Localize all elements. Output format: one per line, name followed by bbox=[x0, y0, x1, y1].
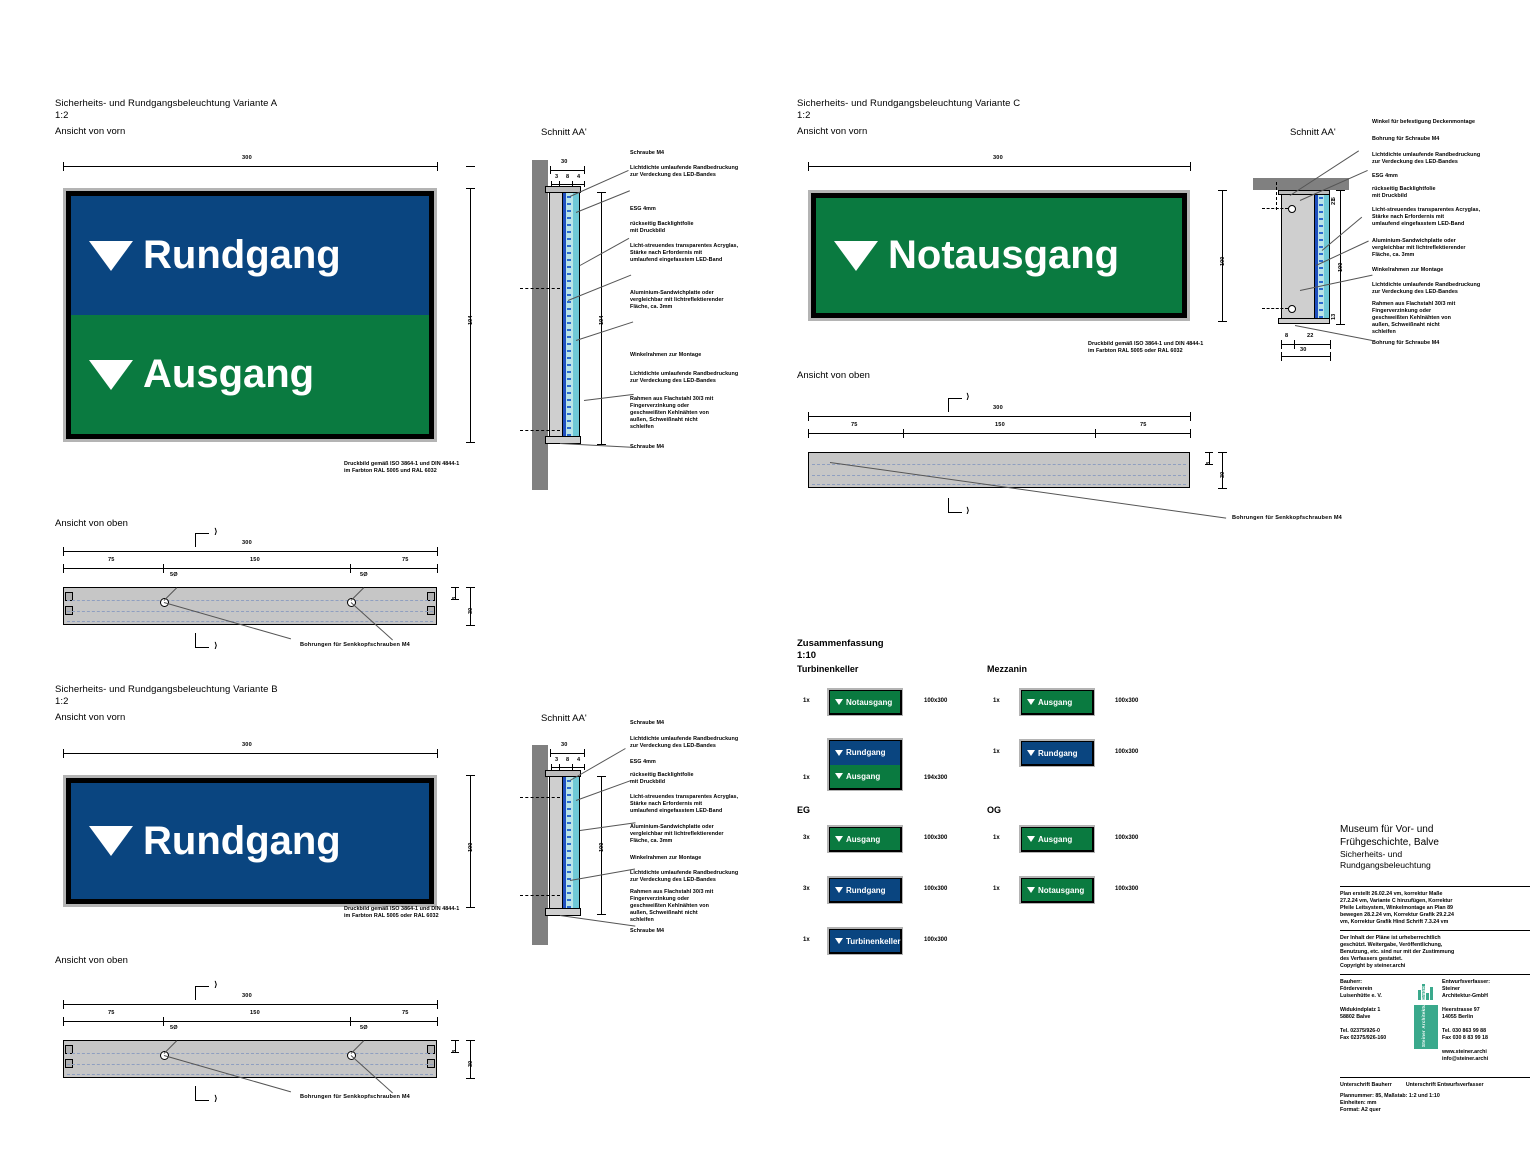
dim-tick bbox=[1336, 324, 1345, 325]
annotation-esg: ESG 4mm bbox=[1372, 173, 1398, 180]
dim-tick bbox=[1218, 321, 1227, 322]
topview-seg-75-left: 75 bbox=[108, 557, 115, 563]
variant-a-width-value: 300 bbox=[242, 155, 252, 161]
dim-tick bbox=[437, 564, 438, 573]
variant-c-print-note: Druckbild gemäß ISO 3864-1 und DIN 4844-… bbox=[1088, 341, 1203, 355]
summary-sign-label: Rundgang bbox=[846, 748, 886, 757]
annotation-edge-print-top: Lichtdichte umlaufende Randbedruckung zu… bbox=[630, 165, 738, 179]
topview-hole-note: Bohrungen für Senkkopfschrauben M4 bbox=[300, 642, 410, 648]
plate-hidden-line bbox=[67, 1064, 433, 1065]
arrow-down-icon bbox=[1027, 836, 1035, 842]
summary-sign: Notausgang bbox=[827, 688, 903, 716]
divider bbox=[1340, 886, 1530, 887]
arrow-down-icon bbox=[834, 241, 878, 271]
dim-tick bbox=[350, 564, 351, 573]
divider bbox=[1340, 1077, 1530, 1078]
dim-tick bbox=[597, 192, 606, 193]
annotation-backlight-foil: rückseitig Backlightfolie mit Druckbild bbox=[630, 221, 694, 235]
plate-hidden-line bbox=[812, 475, 1186, 476]
annotation-steel-frame: Rahmen aus Flachstahl 30/3 mit Fingerver… bbox=[630, 889, 713, 924]
dim-tick bbox=[1205, 464, 1213, 465]
plate-hidden-line bbox=[67, 611, 433, 612]
variant-a-top-view-label: Ansicht von oben bbox=[55, 518, 128, 529]
dim-tick bbox=[584, 181, 585, 187]
section-mark bbox=[195, 986, 196, 1000]
annotation-backlight-foil: rückseitig Backlightfolie mit Druckbild bbox=[630, 772, 694, 786]
dim-tick bbox=[1190, 412, 1191, 421]
topview-seg-75-right: 75 bbox=[402, 557, 409, 563]
annotation-acrylic: Licht-streuendes transparentes Acryglas,… bbox=[1372, 207, 1480, 228]
section-mark bbox=[948, 498, 949, 512]
dim-tick bbox=[63, 749, 64, 758]
annotation-screw-top: Schraube M4 bbox=[630, 720, 664, 727]
summary-size: 100x300 bbox=[1115, 749, 1138, 755]
summary-sign: Notausgang bbox=[1019, 876, 1095, 904]
variant-b-row-blue: Rundgang bbox=[71, 783, 429, 899]
summary-sign-label: Notausgang bbox=[1038, 886, 1084, 895]
project-subject: Sicherheits- und Rundgangsbeleuchtung bbox=[1340, 849, 1530, 870]
topview-depth-value: 30 bbox=[468, 608, 474, 614]
center-axis bbox=[520, 797, 560, 798]
dim-tick bbox=[550, 749, 551, 757]
dim-tick bbox=[597, 776, 606, 777]
summary-size: 100x300 bbox=[924, 886, 947, 892]
annotation-steel-frame: Rahmen aus Flachstahl 30/3 mit Fingerver… bbox=[1372, 301, 1455, 336]
client-address: Bauherr: Förderverein Luisenhütte e. V. … bbox=[1340, 979, 1410, 1063]
dim-tick bbox=[1190, 429, 1191, 438]
center-axis bbox=[520, 430, 560, 431]
topview-c-seg-75-left: 75 bbox=[851, 422, 858, 428]
dim-tick bbox=[466, 442, 475, 443]
dim-tick bbox=[1330, 340, 1331, 349]
dim-tick bbox=[1330, 352, 1331, 361]
signature-client-label: Unterschrift Bauherr bbox=[1340, 1082, 1392, 1088]
arrow-down-icon bbox=[1027, 699, 1035, 705]
section-height-dimline bbox=[1340, 190, 1341, 324]
topview-c-total-dimline bbox=[808, 416, 1190, 417]
topview-c-seg-150: 150 bbox=[995, 422, 1005, 428]
topview-edge-dimline bbox=[455, 587, 456, 599]
hole-diameter-right: 5Ø bbox=[360, 572, 368, 578]
dim-tick bbox=[808, 429, 809, 438]
copyright-notice: Der Inhalt der Pläne ist urheberrechtlic… bbox=[1340, 935, 1530, 970]
dim-tick bbox=[63, 547, 64, 556]
bottom-frame-angle bbox=[1278, 318, 1330, 324]
topview-hole-note: Bohrungen für Senkkopfschrauben M4 bbox=[300, 1094, 410, 1100]
annotation-angle-frame: Winkelrahmen zur Montage bbox=[630, 855, 701, 862]
topview-edge-dimline bbox=[455, 1040, 456, 1052]
variant-b-top-view-label: Ansicht von oben bbox=[55, 955, 128, 966]
plate-hidden-line bbox=[67, 1074, 433, 1075]
arrow-down-icon bbox=[1027, 750, 1035, 756]
section-depth-value: 30 bbox=[561, 159, 568, 165]
dim-tick bbox=[584, 749, 585, 757]
variant-a-width-dimline bbox=[63, 166, 437, 167]
section-mark bbox=[948, 512, 962, 513]
annotation-edge-print-top: Lichtdichte umlaufende Randbedruckung zu… bbox=[1372, 152, 1480, 166]
summary-size: 100x300 bbox=[1115, 698, 1138, 704]
arrow-down-icon bbox=[835, 938, 843, 944]
topview-plate bbox=[63, 587, 437, 625]
logo-text: Steiner Architektur GmbH bbox=[1421, 986, 1426, 1047]
plate-hidden-line bbox=[67, 1053, 433, 1054]
summary-sign-label: Ausgang bbox=[846, 835, 880, 844]
summary-count: 1x bbox=[803, 775, 810, 781]
led-band-dots bbox=[567, 196, 571, 440]
leader-line bbox=[576, 190, 630, 213]
project-title: Museum für Vor- und Frühgeschichte, Balv… bbox=[1340, 824, 1530, 849]
steiner-logo: Steiner Architektur GmbH bbox=[1414, 979, 1438, 1049]
dim-tick bbox=[350, 1017, 351, 1026]
top-frame-angle bbox=[545, 186, 581, 193]
dim-tick bbox=[1281, 340, 1282, 349]
variant-a-title: Sicherheits- und Rundgangsbeleuchtung Va… bbox=[55, 98, 277, 122]
summary-count: 3x bbox=[803, 886, 810, 892]
arrow-down-icon bbox=[835, 699, 843, 705]
plate-hidden-line bbox=[67, 600, 433, 601]
annotation-acrylic: Licht-streuendes transparentes Acryglas,… bbox=[630, 243, 738, 264]
summary-sign-label: Ausgang bbox=[1038, 698, 1072, 707]
dim-tick bbox=[451, 1052, 459, 1053]
summary-size: 100x300 bbox=[1115, 886, 1138, 892]
variant-c-height-dimline bbox=[1222, 190, 1223, 321]
topview-seg-150: 150 bbox=[250, 1010, 260, 1016]
layer-dimline bbox=[551, 184, 584, 185]
annotation-steel-frame: Rahmen aus Flachstahl 30/3 mit Fingerver… bbox=[630, 396, 713, 431]
dim-tick bbox=[437, 1017, 438, 1026]
section-layer-4: 4 bbox=[577, 757, 580, 763]
variant-c-sign: Notausgang bbox=[808, 190, 1190, 321]
summary-sign: Ausgang bbox=[827, 825, 903, 853]
annotation-screw-bottom: Schraube M4 bbox=[630, 928, 664, 935]
center-axis bbox=[1276, 182, 1277, 210]
summary-count: 1x bbox=[803, 937, 810, 943]
dim-tick bbox=[597, 914, 606, 915]
leader-line bbox=[580, 822, 636, 831]
annotation-esg: ESG 4mm bbox=[630, 206, 656, 213]
summary-sign-label: Turbinenkeller bbox=[846, 937, 901, 946]
dim-tick bbox=[451, 599, 459, 600]
variant-b-print-note: Druckbild gemäß ISO 3864-1 und DIN 4844-… bbox=[344, 906, 459, 920]
arrow-down-icon bbox=[835, 887, 843, 893]
variant-a-front-view-label: Ansicht von vorn bbox=[55, 126, 125, 137]
section-height-value: 194 bbox=[599, 316, 605, 325]
summary-count: 1x bbox=[993, 835, 1000, 841]
signature-architect-label: Unterschrift Entwurfsverfasser bbox=[1406, 1082, 1484, 1088]
variant-b-row-label: Rundgang bbox=[143, 819, 341, 864]
variant-b-height-dimline bbox=[470, 775, 471, 907]
section-layer-8: 8 bbox=[566, 757, 569, 763]
topview-c-hole-note: Bohrungen für Senkkopfschrauben M4 bbox=[1232, 515, 1342, 521]
summary-count: 1x bbox=[803, 698, 810, 704]
variant-b-height-value: 100 bbox=[468, 843, 474, 852]
dim-tick bbox=[466, 1040, 475, 1041]
annotation-edge-print-bottom: Lichtdichte umlaufende Randbedruckung zu… bbox=[630, 870, 738, 884]
aluminium-sandwich-panel bbox=[549, 192, 563, 444]
dim-tick bbox=[63, 564, 64, 573]
plan-footer-info: Plannummer: 85, Maßstab: 1:2 und 1:10 Ei… bbox=[1340, 1093, 1530, 1114]
section-mark-label: ⟩ bbox=[966, 506, 970, 515]
topview-c-seg-dimline bbox=[808, 433, 1190, 434]
glass-edge bbox=[579, 776, 580, 914]
variant-b-sign: Rundgang bbox=[63, 775, 437, 907]
summary-size: 100x300 bbox=[924, 835, 947, 841]
section-height-value: 100 bbox=[1338, 263, 1344, 272]
summary-count: 1x bbox=[993, 886, 1000, 892]
section-layer-3: 3 bbox=[555, 757, 558, 763]
section-total-depth-value: 30 bbox=[1300, 347, 1307, 353]
address-block: Bauherr: Förderverein Luisenhütte e. V. … bbox=[1340, 979, 1530, 1063]
divider bbox=[1340, 974, 1530, 975]
topview-depth-value: 30 bbox=[468, 1061, 474, 1067]
section-mark-label: ⟩ bbox=[214, 980, 218, 989]
section-mark bbox=[195, 986, 209, 987]
section-mark-label: ⟩ bbox=[966, 392, 970, 401]
section-depth-dimline bbox=[550, 753, 584, 754]
arrow-down-icon bbox=[89, 826, 133, 856]
summary-group-eg: EG bbox=[797, 805, 810, 815]
dim-tick bbox=[466, 166, 475, 167]
section-mark bbox=[195, 533, 209, 534]
led-band-dots bbox=[567, 780, 571, 910]
annotation-screw-hole-bottom: Bohrung für Schraube M4 bbox=[1372, 340, 1439, 347]
section-mark-label: ⟩ bbox=[214, 1094, 218, 1103]
annotation-alu-panel: Aluminium-Sandwichplatte oder vergleichb… bbox=[630, 290, 724, 311]
topview-seg-dimline bbox=[63, 1021, 437, 1022]
variant-b-front-view-label: Ansicht von vorn bbox=[55, 712, 125, 723]
dim-tick bbox=[1205, 452, 1213, 453]
dim-tick bbox=[1218, 452, 1227, 453]
annotation-screw-hole-top: Bohrung für Schraube M4 bbox=[1372, 136, 1439, 143]
summary-sign-label: Ausgang bbox=[846, 772, 880, 781]
summary-size: 100x300 bbox=[1115, 835, 1138, 841]
variant-a-sign: Rundgang Ausgang bbox=[63, 188, 437, 442]
variant-a-print-note: Druckbild gemäß ISO 3864-1 und DIN 4844-… bbox=[344, 461, 459, 475]
annotation-ceiling-angle: Winkel für befestigung Deckenmontage bbox=[1372, 119, 1475, 126]
dim-tick bbox=[437, 749, 438, 758]
topview-depth-dimline bbox=[470, 1040, 471, 1078]
dim-tick bbox=[584, 764, 585, 770]
section-mark-label: ⟩ bbox=[214, 527, 218, 536]
section-height-value: 100 bbox=[599, 843, 605, 852]
variant-b-width-dimline bbox=[63, 753, 437, 754]
dim-tick bbox=[808, 412, 809, 421]
dim-tick bbox=[903, 429, 904, 438]
section-gap-value: 5 bbox=[1331, 197, 1337, 200]
divider bbox=[1340, 930, 1530, 931]
variant-a-section-label: Schnitt AA' bbox=[541, 127, 587, 138]
topview-c-total-value: 300 bbox=[993, 405, 1003, 411]
revision-notes: Plan erstellt 26.02.24 vm, korrektur Maß… bbox=[1340, 891, 1530, 926]
dim-tick bbox=[437, 547, 438, 556]
topview-seg-150: 150 bbox=[250, 557, 260, 563]
summary-count: 1x bbox=[993, 698, 1000, 704]
dim-tick bbox=[451, 587, 459, 588]
annotation-angle-frame: Winkelrahmen zur Montage bbox=[630, 352, 701, 359]
center-axis bbox=[520, 288, 560, 289]
variant-b-section-label: Schnitt AA' bbox=[541, 713, 587, 724]
variant-c-front-view-label: Ansicht von vorn bbox=[797, 126, 867, 137]
summary-sign-label: Notausgang bbox=[846, 698, 892, 707]
section-dim-22: 22 bbox=[1307, 333, 1314, 339]
dim-tick bbox=[437, 162, 438, 171]
topview-c-plate bbox=[808, 452, 1190, 488]
dim-tick bbox=[63, 1017, 64, 1026]
center-axis bbox=[1262, 208, 1288, 209]
section-mark bbox=[195, 1086, 196, 1100]
variant-b-width-value: 300 bbox=[242, 742, 252, 748]
annotation-backlight-foil: rückseitig Backlightfolie mit Druckbild bbox=[1372, 186, 1436, 200]
variant-c-top-view-label: Ansicht von oben bbox=[797, 370, 870, 381]
signature-row: Unterschrift Bauherr Unterschrift Entwur… bbox=[1340, 1082, 1530, 1088]
section-layer-4: 4 bbox=[577, 174, 580, 180]
dim-tick bbox=[466, 625, 475, 626]
aluminium-sandwich-panel bbox=[1281, 193, 1315, 324]
plate-hidden-line bbox=[67, 621, 433, 622]
section-mark bbox=[195, 1100, 209, 1101]
annotation-alu-panel: Aluminium-Sandwichplatte oder vergleichb… bbox=[630, 824, 724, 845]
section-depth-dimline bbox=[550, 170, 584, 171]
dim-tick bbox=[163, 1017, 164, 1026]
summary-sign: Rundgang Ausgang bbox=[827, 738, 903, 791]
variant-b-title: Sicherheits- und Rundgangsbeleuchtung Va… bbox=[55, 684, 278, 708]
summary-scale: 1:10 bbox=[797, 650, 816, 661]
variant-c-row-green: Notausgang bbox=[816, 198, 1182, 313]
section-mark-label: ⟩ bbox=[214, 641, 218, 650]
section-mark bbox=[195, 533, 196, 547]
topview-total-value: 300 bbox=[242, 540, 252, 546]
topview-total-dimline bbox=[63, 1004, 437, 1005]
summary-size: 100x300 bbox=[924, 698, 947, 704]
leader-line bbox=[580, 238, 629, 266]
annotation-acrylic: Licht-streuendes transparentes Acryglas,… bbox=[630, 794, 738, 815]
variant-c-section-label: Schnitt AA' bbox=[1290, 127, 1336, 138]
dim-tick bbox=[437, 1000, 438, 1009]
summary-sign-label: Ausgang bbox=[1038, 835, 1072, 844]
variant-a-height-value: 194 bbox=[468, 316, 474, 325]
summary-sign: Turbinenkeller bbox=[827, 927, 903, 955]
dim-tick bbox=[466, 587, 475, 588]
dim-tick bbox=[1294, 340, 1295, 349]
topview-c-depth-dimline bbox=[1222, 452, 1223, 488]
section-layer-8: 8 bbox=[566, 174, 569, 180]
topview-depth-dimline bbox=[470, 587, 471, 625]
dim-tick bbox=[466, 188, 475, 189]
variant-a-row-label: Ausgang bbox=[143, 352, 314, 397]
screw-hole bbox=[1288, 305, 1296, 313]
leader-line bbox=[584, 394, 634, 401]
summary-sign-label: Rundgang bbox=[1038, 749, 1078, 758]
summary-count: 1x bbox=[993, 749, 1000, 755]
hole-diameter-left: 5Ø bbox=[170, 1025, 178, 1031]
dim-tick bbox=[1095, 429, 1096, 438]
summary-sign: Rundgang bbox=[827, 876, 903, 904]
dim-tick bbox=[584, 166, 585, 174]
summary-sign: Ausgang bbox=[1019, 825, 1095, 853]
variant-c-height-value: 100 bbox=[1220, 257, 1226, 266]
section-bottom-value: 13 bbox=[1331, 314, 1337, 320]
summary-size: 100x300 bbox=[924, 937, 947, 943]
variant-c-width-dimline bbox=[808, 166, 1190, 167]
annotation-angle-frame: Winkelrahmen zur Montage bbox=[1372, 267, 1443, 274]
section-total-depth-dimline bbox=[1281, 356, 1330, 357]
dim-tick bbox=[1281, 352, 1282, 361]
section-dim-8: 8 bbox=[1285, 333, 1288, 339]
summary-group-turbinenkeller: Turbinenkeller bbox=[797, 664, 858, 674]
dim-tick bbox=[466, 775, 475, 776]
dim-tick bbox=[63, 162, 64, 171]
annotation-edge-print-bottom: Lichtdichte umlaufende Randbedruckung zu… bbox=[1372, 282, 1480, 296]
topview-seg-75-right: 75 bbox=[402, 1010, 409, 1016]
topview-c-seg-75-right: 75 bbox=[1140, 422, 1147, 428]
section-depth-dimline bbox=[1281, 344, 1330, 345]
variant-c-row-label: Notausgang bbox=[888, 233, 1119, 278]
topview-total-dimline bbox=[63, 551, 437, 552]
dim-tick bbox=[808, 162, 809, 171]
dim-tick bbox=[550, 166, 551, 174]
summary-size: 194x300 bbox=[924, 775, 947, 781]
summary-sign: Ausgang bbox=[1019, 688, 1095, 716]
arrow-down-icon bbox=[835, 750, 843, 756]
annotation-edge-print-bottom: Lichtdichte umlaufende Randbedruckung zu… bbox=[630, 371, 738, 385]
variant-a-row-blue: Rundgang bbox=[71, 196, 429, 315]
topview-c-edge-dimline bbox=[1209, 452, 1210, 464]
center-axis bbox=[520, 895, 560, 896]
leader-line bbox=[576, 780, 631, 801]
glass-edge bbox=[579, 192, 580, 444]
annotation-esg: ESG 4mm bbox=[630, 759, 656, 766]
section-depth-value: 30 bbox=[561, 742, 568, 748]
dim-tick bbox=[1190, 162, 1191, 171]
dim-tick bbox=[1218, 190, 1227, 191]
section-layer-3: 3 bbox=[555, 174, 558, 180]
summary-sign-label: Rundgang bbox=[846, 886, 886, 895]
dim-tick bbox=[1336, 190, 1345, 191]
summary-title: Zusammenfassung bbox=[797, 638, 884, 649]
variant-c-title: Sicherheits- und Rundgangsbeleuchtung Va… bbox=[797, 98, 1020, 122]
summary-sign: Rundgang bbox=[1019, 739, 1095, 767]
center-axis bbox=[1262, 308, 1288, 309]
dim-tick bbox=[1218, 488, 1227, 489]
section-mark bbox=[195, 633, 196, 647]
annotation-alu-panel: Aluminium-Sandwichplatte oder vergleichb… bbox=[1372, 238, 1466, 259]
annotation-screw-top: Schraube M4 bbox=[630, 150, 664, 157]
hole-diameter-left: 5Ø bbox=[170, 572, 178, 578]
dim-tick bbox=[451, 1040, 459, 1041]
dim-tick bbox=[466, 907, 475, 908]
topview-total-value: 300 bbox=[242, 993, 252, 999]
topview-seg-75-left: 75 bbox=[108, 1010, 115, 1016]
screw-hole bbox=[1288, 205, 1296, 213]
topview-seg-dimline bbox=[63, 568, 437, 569]
variant-a-row-label: Rundgang bbox=[143, 233, 341, 278]
hole-diameter-right: 5Ø bbox=[360, 1025, 368, 1031]
architect-address: Entwurfsverfasser: Steiner Architektur-G… bbox=[1442, 979, 1512, 1063]
summary-group-mezzanin: Mezzanin bbox=[987, 664, 1027, 674]
topview-plate bbox=[63, 1040, 437, 1078]
section-mark bbox=[948, 398, 962, 399]
arrow-down-icon bbox=[835, 836, 843, 842]
section-mark bbox=[195, 647, 209, 648]
arrow-down-icon bbox=[835, 773, 843, 779]
summary-count: 3x bbox=[803, 835, 810, 841]
layer-dimline bbox=[551, 767, 584, 768]
annotation-edge-print-top: Lichtdichte umlaufende Randbedruckung zu… bbox=[630, 736, 738, 750]
dim-tick bbox=[466, 1078, 475, 1079]
arrow-down-icon bbox=[1027, 887, 1035, 893]
dim-tick bbox=[63, 1000, 64, 1009]
leader-line bbox=[560, 915, 635, 927]
